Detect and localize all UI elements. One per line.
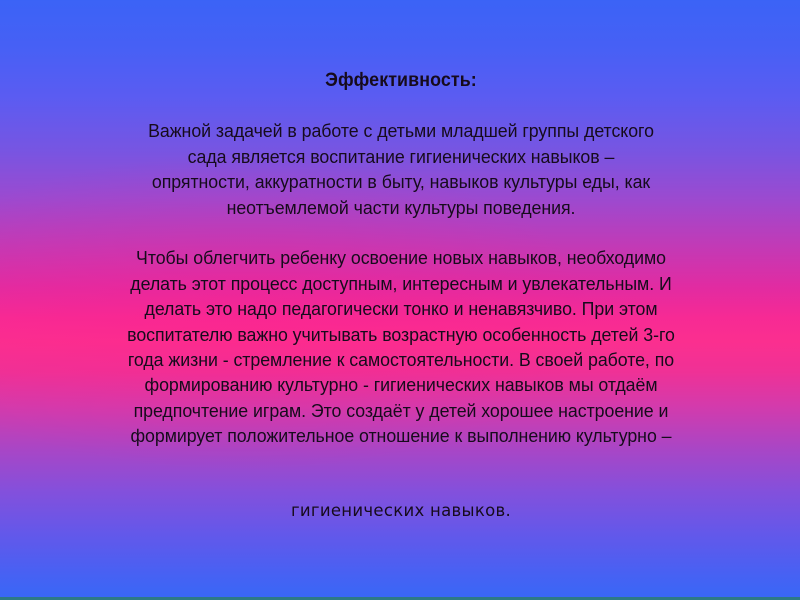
- body-paragraph-2: Чтобы облегчить ребенку освоение новых н…: [76, 245, 727, 448]
- slide-body-text: Важной задачей в работе с детьми младшей…: [76, 93, 727, 474]
- slide-heading: Эффективность:: [82, 70, 719, 92]
- closing-line: гигиенических навыков.: [72, 500, 730, 522]
- presentation-slide: Эффективность: Важной задачей в работе с…: [0, 0, 800, 600]
- paragraph-spacer: [62, 474, 740, 500]
- body-paragraph-1: Важной задачей в работе с детьми младшей…: [76, 118, 727, 220]
- slide-text-body: Эффективность: Важной задачей в работе с…: [62, 70, 740, 522]
